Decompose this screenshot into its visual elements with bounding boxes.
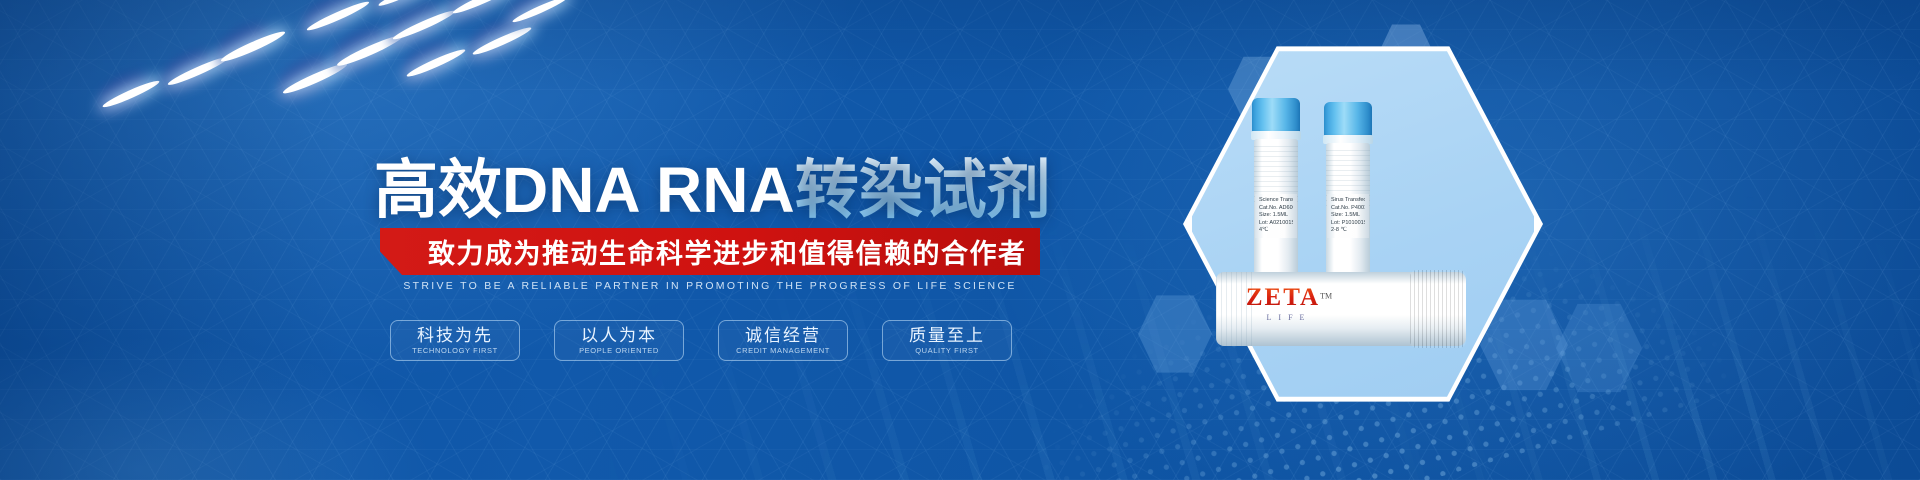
feature-pill-credit-management[interactable]: 诚信经营 CREDIT MANAGEMENT bbox=[718, 320, 848, 361]
feature-label-en: CREDIT MANAGEMENT bbox=[736, 346, 830, 356]
feature-pill-people-oriented[interactable]: 以人为本 PEOPLE ORIENTED bbox=[554, 320, 684, 361]
vial-cap-red bbox=[1410, 270, 1466, 348]
banner-title: 高效DNA RNA转染试剂 bbox=[374, 155, 1051, 225]
reagent-vial-left: Science Transfec Cat.No. AD6001S Size: 1… bbox=[1252, 98, 1300, 288]
feature-label-cn: 诚信经营 bbox=[745, 326, 821, 345]
feature-pill-group: 科技为先 TECHNOLOGY FIRST 以人为本 PEOPLE ORIENT… bbox=[390, 320, 1012, 361]
feature-label-cn: 质量至上 bbox=[909, 326, 985, 345]
vial-label-line: Size: 1.5ML bbox=[1331, 212, 1365, 220]
vial-label-right: Sirus Transfection Cat.No. P4001S01 Size… bbox=[1327, 194, 1369, 238]
banner-title-cyan: 转染试剂 bbox=[795, 154, 1051, 226]
reagent-vial-right: Sirus Transfection Cat.No. P4001S01 Size… bbox=[1324, 102, 1372, 288]
feature-label-en: PEOPLE ORIENTED bbox=[579, 346, 659, 356]
english-subtitle: STRIVE TO BE A RELIABLE PARTNER IN PROMO… bbox=[400, 280, 1020, 292]
feature-label-cn: 以人为本 bbox=[581, 326, 657, 345]
feature-label-en: QUALITY FIRST bbox=[915, 346, 979, 356]
zeta-wordmark: ZETA bbox=[1246, 284, 1320, 312]
banner-title-white: 高效DNA RNA bbox=[374, 154, 795, 226]
decorative-hexagon-far-right bbox=[1556, 300, 1642, 396]
red-slogan-text: 致力成为推动生命科学进步和值得信赖的合作者 bbox=[428, 232, 1027, 271]
promo-banner: Science Transfec Cat.No. AD6001S Size: 1… bbox=[0, 0, 1920, 480]
product-image-panel: Science Transfec Cat.No. AD6001S Size: 1… bbox=[1188, 44, 1538, 404]
banner-text-content: 高效DNA RNA转染试剂 致力成为推动生命科学进步和值得信赖的合作者 STRI… bbox=[0, 0, 1100, 480]
vial-label-left: Science Transfec Cat.No. AD6001S Size: 1… bbox=[1255, 194, 1297, 238]
zeta-life-logo: ZETATM LIFE bbox=[1164, 284, 1414, 322]
trademark-symbol: TM bbox=[1320, 292, 1332, 301]
reagent-vial-front: ZETATM LIFE bbox=[1216, 272, 1466, 346]
red-slogan-band: 致力成为推动生命科学进步和值得信赖的合作者 bbox=[380, 228, 1040, 275]
feature-label-en: TECHNOLOGY FIRST bbox=[412, 346, 498, 356]
vial-label-line: Science Transfec bbox=[1259, 197, 1293, 205]
vial-label-line: 4℃ bbox=[1259, 227, 1293, 235]
vial-label-line: Size: 1.5ML bbox=[1259, 212, 1293, 220]
vial-label-line: Sirus Transfection bbox=[1331, 197, 1365, 205]
zeta-life-subtext: LIFE bbox=[1164, 313, 1414, 322]
feature-pill-technology-first[interactable]: 科技为先 TECHNOLOGY FIRST bbox=[390, 320, 520, 361]
vial-ridges bbox=[1254, 142, 1298, 202]
vial-label-line: 2-8 ℃ bbox=[1331, 227, 1365, 235]
feature-pill-quality-first[interactable]: 质量至上 QUALITY FIRST bbox=[882, 320, 1012, 361]
feature-label-cn: 科技为先 bbox=[417, 326, 493, 345]
